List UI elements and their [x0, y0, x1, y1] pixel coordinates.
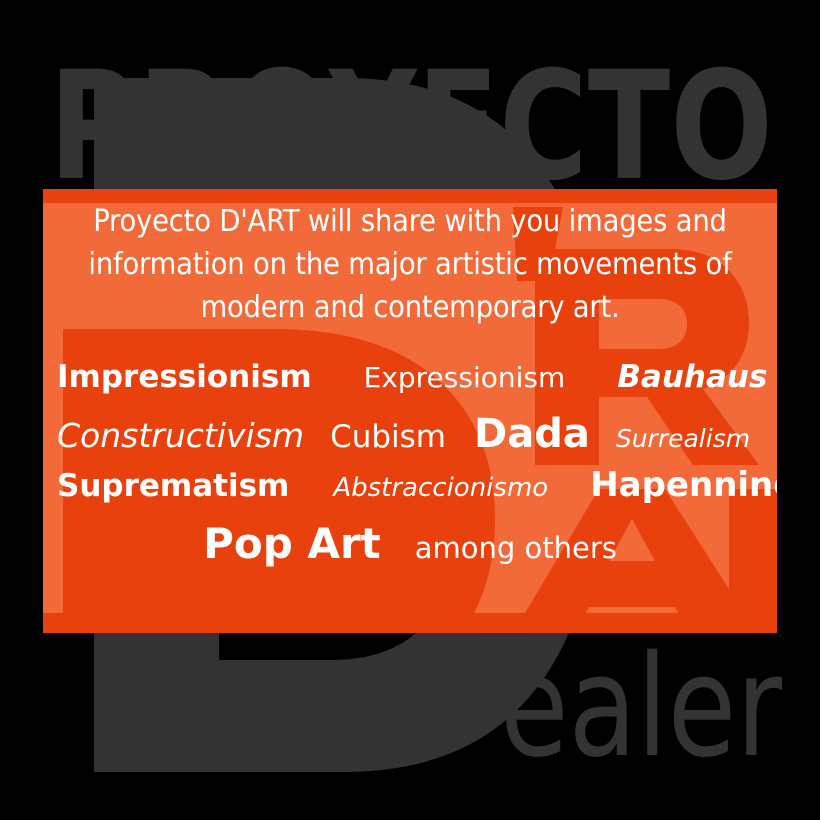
description-line-3: modern and contemporary art. — [43, 286, 777, 329]
movement-dada: Dada — [474, 411, 590, 457]
movement-expressionism: Expressionism — [364, 361, 566, 394]
movements-row: Pop Art among others — [43, 519, 777, 575]
panel-description: Proyecto D'ART will share with you image… — [43, 200, 777, 329]
movement-suprematism: Suprematism — [57, 468, 289, 504]
dealer-suffix-watermark: ealer — [490, 645, 790, 770]
movement-impressionism: Impressionism — [57, 359, 312, 395]
movement-cubism: Cubism — [330, 419, 446, 455]
movement-hapennings: Hapennings — [590, 465, 777, 505]
movement-bauhaus: Bauhaus — [617, 359, 767, 395]
movement-abstraccionismo: Abstraccionismo — [333, 473, 548, 503]
page-title-text: PROYECTO — [49, 50, 773, 192]
movements-row: Suprematism Abstraccionismo Hapennings — [43, 465, 777, 519]
description-line-1: Proyecto D'ART will share with you image… — [43, 200, 777, 243]
page-title: PROYECTO — [43, 50, 779, 192]
movements-row: Impressionism Expressionism Bauhaus — [43, 359, 777, 411]
dealer-suffix-text: ealer — [500, 645, 782, 770]
content-panel: Proyecto D'ART will share with you image… — [43, 189, 777, 633]
description-line-2: information on the major artistic moveme… — [43, 243, 777, 286]
movements-row: Constructivism Cubism Dada Surrealism — [43, 411, 777, 465]
poster-canvas: PROYECTO — [0, 0, 820, 820]
movements-list: Impressionism Expressionism Bauhaus Cons… — [43, 359, 777, 575]
movement-among-others: among others — [415, 531, 617, 565]
movement-surrealism: Surrealism — [616, 424, 750, 453]
movement-constructivism: Constructivism — [57, 416, 304, 455]
movement-pop-art: Pop Art — [203, 519, 381, 568]
